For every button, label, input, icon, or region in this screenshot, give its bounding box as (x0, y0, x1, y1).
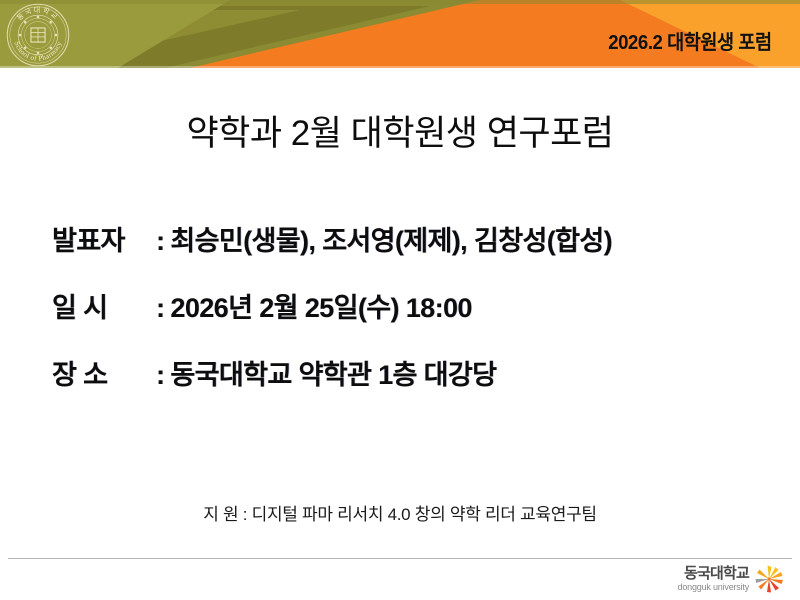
detail-value-location: 동국대학교 약학관 1층 대강당 (170, 360, 496, 390)
detail-row-presenters: 발표자:최승민(생물), 조서영(제제), 김창성(합성) (52, 228, 772, 255)
support-organization-line: 지 원 : 디지털 파마 리서치 4.0 창의 약학 리더 교육연구팀 (0, 500, 800, 525)
detail-label-location: 장 소 (52, 362, 156, 389)
detail-value-datetime: 2026년 2월 25일(수) 18:00 (170, 293, 471, 323)
detail-separator: : (156, 293, 170, 323)
footer-logo-text: 동국대학교 dongguk university (678, 566, 749, 592)
detail-separator: : (156, 360, 170, 390)
dongguk-pinwheel-mark-icon (754, 564, 784, 594)
header-banner: 동국대학교 School of Pharmacy 2026.2 대학원생 포럼 (0, 0, 800, 68)
detail-label-presenters: 발표자 (52, 228, 156, 255)
detail-value-presenters: 최승민(생물), 조서영(제제), 김창성(합성) (170, 226, 612, 256)
svg-text:동국대학교: 동국대학교 (15, 5, 61, 22)
university-name-ko: 동국대학교 (684, 566, 749, 581)
dongguk-university-logo: 동국대학교 dongguk university (678, 563, 784, 595)
page-title: 약학과 2월 대학원생 연구포럼 (0, 113, 800, 155)
forum-badge-title: 2026.2 대학원생 포럼 (609, 33, 772, 53)
detail-row-datetime: 일 시:2026년 2월 25일(수) 18:00 (52, 295, 772, 322)
detail-row-location: 장 소:동국대학교 약학관 1층 대강당 (52, 362, 772, 389)
school-of-pharmacy-seal-logo: 동국대학교 School of Pharmacy (6, 3, 70, 67)
university-name-en: dongguk university (678, 583, 749, 592)
detail-label-datetime: 일 시 (52, 295, 156, 322)
detail-separator: : (156, 226, 170, 256)
footer-divider (8, 558, 792, 559)
event-details: 발표자:최승민(생물), 조서영(제제), 김창성(합성) 일 시:2026년 … (52, 228, 772, 389)
